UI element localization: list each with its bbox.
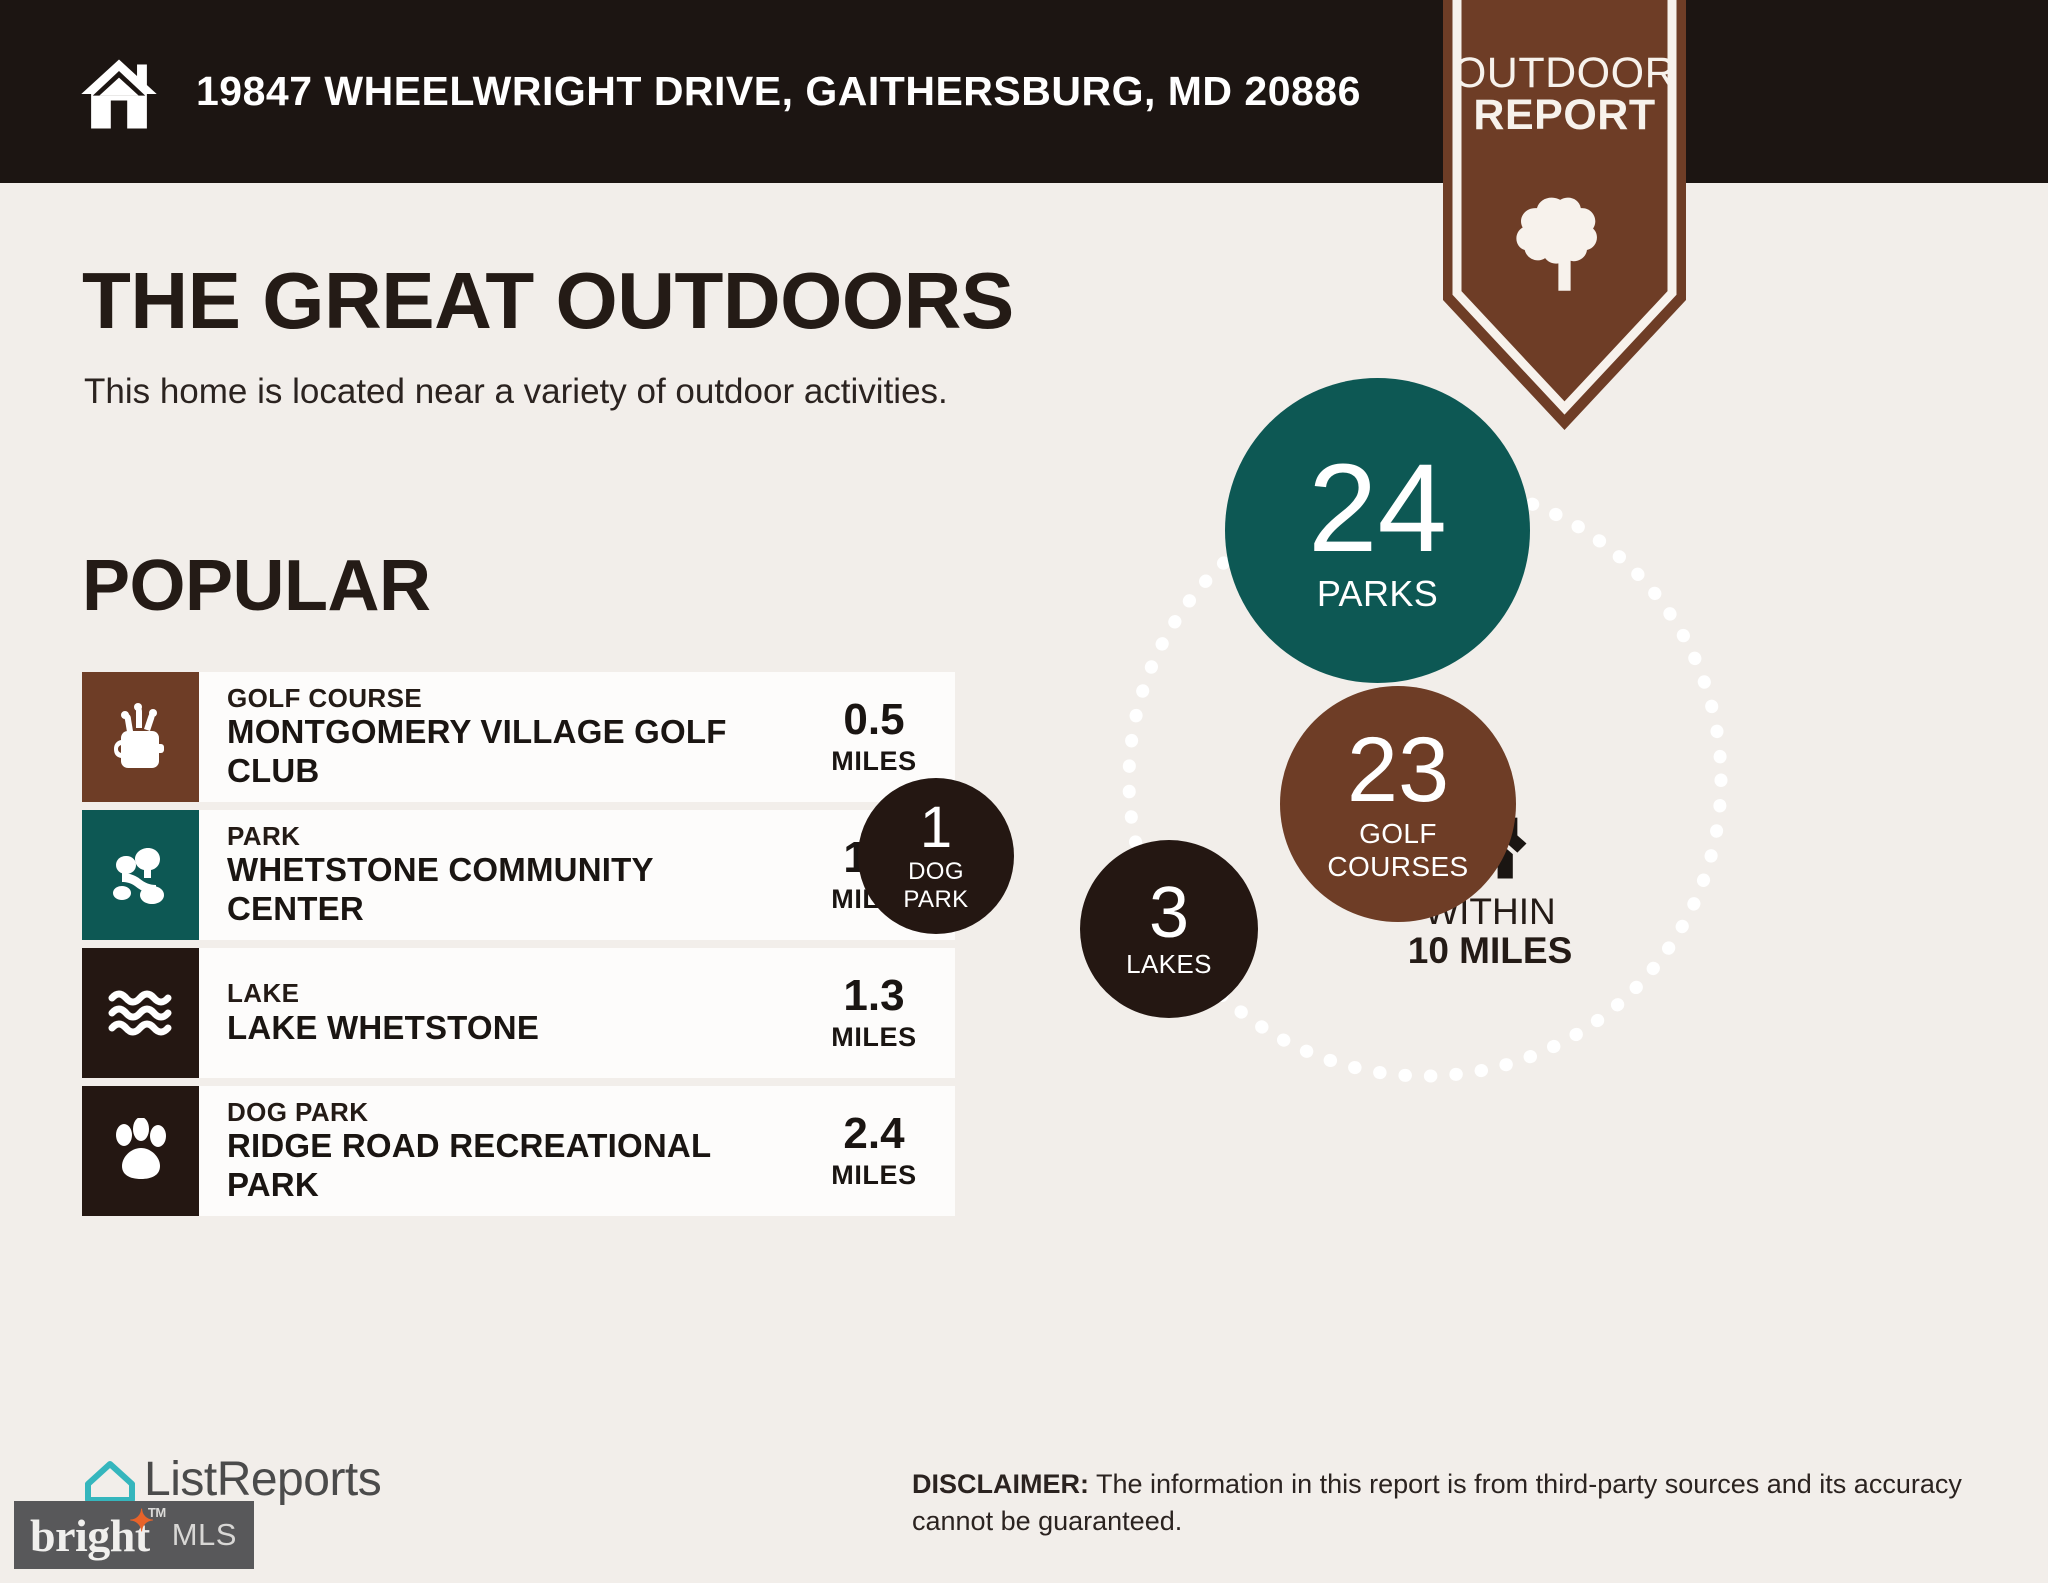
bubble-dogpark-label-line2: PARK <box>903 887 968 912</box>
center-label-line2: 10 MILES <box>1370 931 1610 970</box>
poi-name: RIDGE ROAD RECREATIONAL PARK <box>227 1127 799 1205</box>
poi-category: LAKE <box>227 978 539 1009</box>
bubble-dogpark-label-line1: DOG <box>908 859 964 884</box>
bubble-golf-label-line2: COURSES <box>1327 852 1468 881</box>
listreports-wordmark: ListReports <box>144 1452 381 1507</box>
listreports-logo[interactable]: ListReports <box>82 1452 381 1507</box>
poi-tile <box>82 810 199 940</box>
bubble-golf-count: 23 <box>1347 726 1449 814</box>
bubble-dog-park[interactable]: 1 DOG PARK <box>858 778 1014 934</box>
poi-distance-unit: MILES <box>831 746 917 777</box>
bubble-lakes-count: 3 <box>1149 879 1189 948</box>
poi-distance: 2.4 MILES <box>809 1086 955 1216</box>
poi-tile <box>82 1086 199 1216</box>
paw-print-icon <box>111 1118 171 1184</box>
poi-body: LAKE LAKE WHETSTONE <box>199 948 809 1078</box>
listreports-house-icon <box>82 1454 138 1506</box>
list-item[interactable]: PARK WHETSTONE COMMUNITY CENTER 1.1 MILE… <box>82 810 955 940</box>
poi-name: WHETSTONE COMMUNITY CENTER <box>227 851 799 929</box>
park-trees-icon <box>108 842 174 908</box>
poi-name: LAKE WHETSTONE <box>227 1009 539 1048</box>
section-heading-popular: POPULAR <box>82 545 431 627</box>
bubble-lakes[interactable]: 3 LAKES <box>1080 840 1258 1018</box>
badge-title-line2: REPORT <box>1443 94 1686 136</box>
poi-distance-value: 1.3 <box>843 974 904 1018</box>
poi-category: DOG PARK <box>227 1097 799 1128</box>
amenities-bubble-diagram: WITHIN 10 MILES 24 PARKS 23 GOLF COURSES… <box>1070 450 1970 1350</box>
bubble-golf-label-line1: GOLF <box>1359 819 1437 848</box>
list-item[interactable]: GOLF COURSE MONTGOMERY VILLAGE GOLF CLUB… <box>82 672 955 802</box>
poi-tile <box>82 672 199 802</box>
poi-distance-unit: MILES <box>831 1022 917 1053</box>
poi-body: PARK WHETSTONE COMMUNITY CENTER <box>199 810 809 940</box>
poi-body: GOLF COURSE MONTGOMERY VILLAGE GOLF CLUB <box>199 672 809 802</box>
bubble-lakes-label: LAKES <box>1126 951 1212 978</box>
header-bar: 19847 WHEELWRIGHT DRIVE, GAITHERSBURG, M… <box>0 0 2048 183</box>
poi-distance-unit: MILES <box>831 1160 917 1191</box>
bubble-parks-count: 24 <box>1308 449 1447 569</box>
lake-waves-icon <box>108 987 174 1039</box>
bubble-golf-courses[interactable]: 23 GOLF COURSES <box>1280 686 1516 922</box>
page-title: THE GREAT OUTDOORS <box>82 255 1014 347</box>
property-address: 19847 WHEELWRIGHT DRIVE, GAITHERSBURG, M… <box>196 68 1361 115</box>
poi-category: GOLF COURSE <box>227 683 799 714</box>
golf-bag-icon <box>110 702 172 772</box>
list-item[interactable]: LAKE LAKE WHETSTONE 1.3 MILES <box>82 948 955 1078</box>
bright-mls-watermark: bright ✦ TM MLS <box>14 1501 254 1569</box>
bubble-parks-label: PARKS <box>1317 575 1438 613</box>
poi-distance: 1.3 MILES <box>809 948 955 1078</box>
bright-wordmark: bright ✦ TM <box>30 1509 150 1562</box>
trademark-mark: TM <box>148 1505 166 1520</box>
outdoor-report-badge: OUTDOOR REPORT <box>1443 0 1686 430</box>
poi-category: PARK <box>227 821 799 852</box>
poi-name: MONTGOMERY VILLAGE GOLF CLUB <box>227 713 799 791</box>
bubble-dogpark-count: 1 <box>920 800 952 856</box>
list-item[interactable]: DOG PARK RIDGE ROAD RECREATIONAL PARK 2.… <box>82 1086 955 1216</box>
badge-title-line1: OUTDOOR <box>1443 52 1686 94</box>
page-subtitle: This home is located near a variety of o… <box>84 372 948 412</box>
poi-distance-value: 2.4 <box>843 1112 904 1156</box>
poi-distance-value: 0.5 <box>843 698 904 742</box>
poi-body: DOG PARK RIDGE ROAD RECREATIONAL PARK <box>199 1086 809 1216</box>
poi-tile <box>82 948 199 1078</box>
mls-wordmark: MLS <box>172 1517 237 1553</box>
home-icon <box>78 53 160 135</box>
badge-title: OUTDOOR REPORT <box>1443 52 1686 136</box>
disclaimer-label: DISCLAIMER: <box>912 1469 1089 1499</box>
disclaimer: DISCLAIMER: The information in this repo… <box>912 1466 1972 1541</box>
popular-list: GOLF COURSE MONTGOMERY VILLAGE GOLF CLUB… <box>82 672 955 1224</box>
